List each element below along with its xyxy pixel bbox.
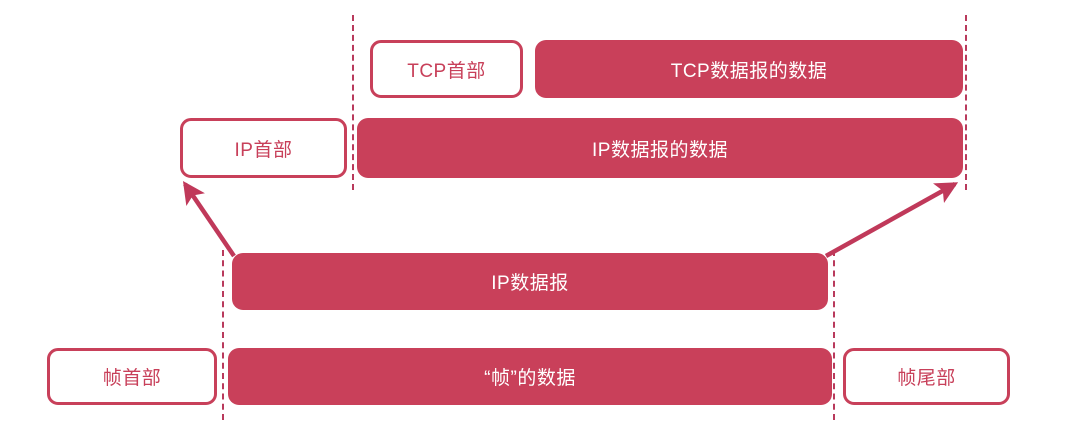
ip-header-label: IP首部 xyxy=(235,135,293,162)
ip-header-box: IP首部 xyxy=(180,118,347,178)
tcp-payload-box: TCP数据报的数据 xyxy=(535,40,963,98)
left-encapsulation-arrow xyxy=(185,184,234,256)
ip-datagram-box: IP数据报 xyxy=(232,253,828,310)
top-left-guide-line xyxy=(352,15,354,190)
frame-payload-label: “帧”的数据 xyxy=(484,363,576,390)
encapsulation-diagram: TCP首部 TCP数据报的数据 IP首部 IP数据报的数据 IP数据报 帧首部 … xyxy=(0,0,1080,440)
frame-header-box: 帧首部 xyxy=(47,348,217,405)
bottom-right-guide-line xyxy=(833,250,835,420)
frame-header-label: 帧首部 xyxy=(103,363,162,390)
tcp-header-box: TCP首部 xyxy=(370,40,523,98)
top-right-guide-line xyxy=(965,15,967,190)
ip-payload-box: IP数据报的数据 xyxy=(357,118,963,178)
tcp-header-label: TCP首部 xyxy=(407,56,486,83)
frame-payload-box: “帧”的数据 xyxy=(228,348,832,405)
bottom-left-guide-line xyxy=(222,250,224,420)
frame-trailer-label: 帧尾部 xyxy=(897,363,956,390)
ip-datagram-label: IP数据报 xyxy=(491,268,568,295)
frame-trailer-box: 帧尾部 xyxy=(843,348,1010,405)
tcp-payload-label: TCP数据报的数据 xyxy=(671,56,828,83)
ip-payload-label: IP数据报的数据 xyxy=(592,135,728,162)
right-encapsulation-arrow xyxy=(826,184,955,256)
